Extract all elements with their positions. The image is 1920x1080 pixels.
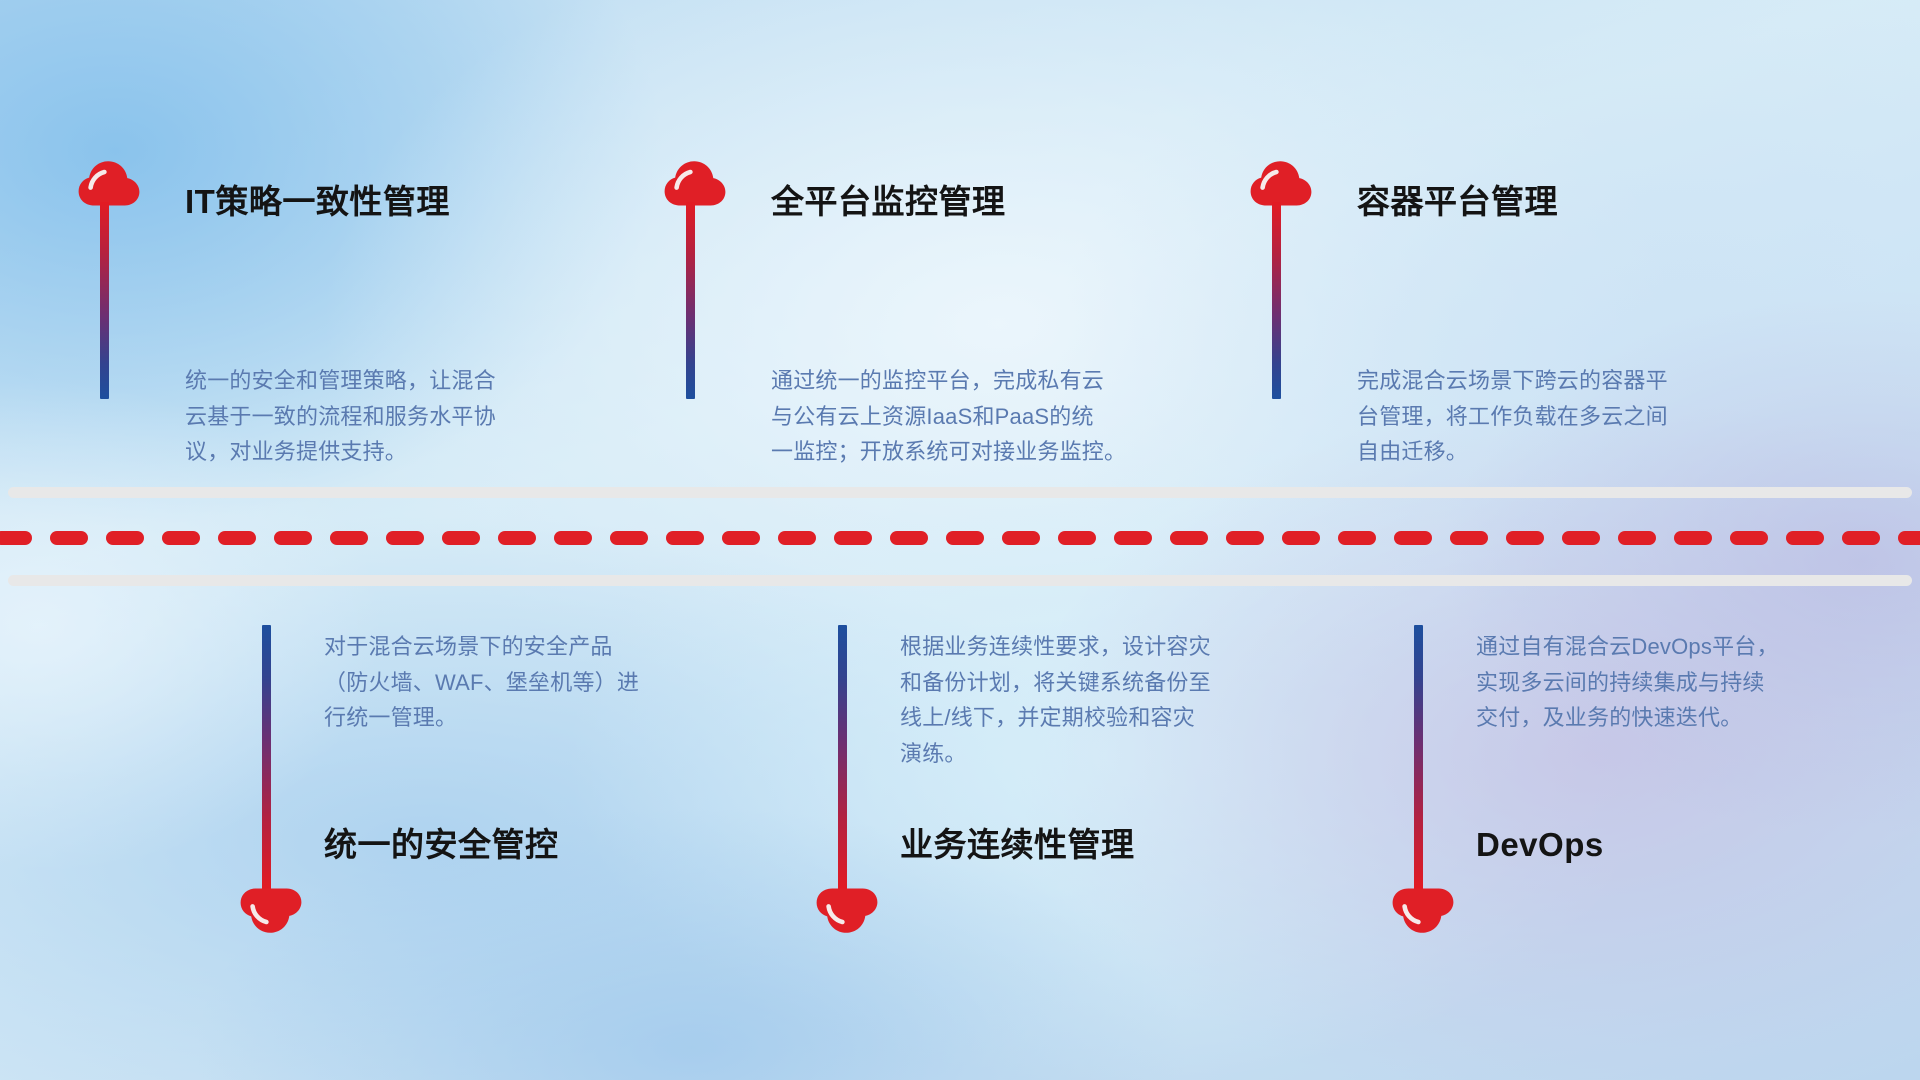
divider-dash — [274, 531, 312, 545]
connector-stem — [686, 202, 695, 399]
cloud-icon — [664, 160, 726, 206]
divider-dash — [1058, 531, 1096, 545]
divider-dash — [722, 531, 760, 545]
divider-dash — [1282, 531, 1320, 545]
cloud-icon — [78, 160, 140, 206]
divider-dash — [330, 531, 368, 545]
divider-dash — [1002, 531, 1040, 545]
divider-dash — [162, 531, 200, 545]
divider-dash — [0, 531, 32, 545]
divider-dash — [1898, 531, 1920, 545]
divider-dash — [1618, 531, 1656, 545]
divider-dashed-line — [0, 531, 1920, 545]
divider-dash — [946, 531, 984, 545]
column-title: DevOps — [1476, 827, 1604, 863]
divider-dash — [554, 531, 592, 545]
divider-dash — [1506, 531, 1544, 545]
divider-dash — [218, 531, 256, 545]
connector-stem — [1414, 625, 1423, 890]
column-body-text: 根据业务连续性要求，设计容灾 和备份计划，将关键系统备份至 线上/线下，并定期校… — [900, 629, 1340, 772]
divider-dash — [1730, 531, 1768, 545]
column-title: IT策略一致性管理 — [185, 184, 450, 220]
divider-dash — [1394, 531, 1432, 545]
divider-dash — [834, 531, 872, 545]
divider-rail-top — [8, 487, 1912, 498]
connector-stem — [262, 625, 271, 890]
divider-dash — [106, 531, 144, 545]
column-title: 容器平台管理 — [1357, 184, 1558, 220]
divider-dash — [442, 531, 480, 545]
divider-dash — [50, 531, 88, 545]
cloud-icon — [1392, 888, 1454, 934]
infographic-canvas: IT策略一致性管理 统一的安全和管理策略，让混合 云基于一致的流程和服务水平协 … — [0, 0, 1920, 1080]
divider-dash — [1562, 531, 1600, 545]
divider-dash — [778, 531, 816, 545]
connector-stem — [1272, 202, 1281, 399]
cloud-icon — [240, 888, 302, 934]
divider-dash — [1786, 531, 1824, 545]
column-body-text: 通过自有混合云DevOps平台， 实现多云间的持续集成与持续 交付，及业务的快速… — [1476, 629, 1906, 736]
divider-band — [0, 487, 1920, 587]
divider-dash — [1674, 531, 1712, 545]
divider-dash — [666, 531, 704, 545]
column-body-text: 统一的安全和管理策略，让混合 云基于一致的流程和服务水平协 议，对业务提供支持。 — [185, 363, 615, 470]
divider-dash — [610, 531, 648, 545]
column-body-text: 通过统一的监控平台，完成私有云 与公有云上资源IaaS和PaaS的统 一监控；开… — [771, 363, 1216, 470]
divider-dash — [1842, 531, 1880, 545]
connector-stem — [100, 202, 109, 399]
cloud-icon — [1250, 160, 1312, 206]
divider-dash — [890, 531, 928, 545]
divider-dash — [1450, 531, 1488, 545]
divider-dash — [1170, 531, 1208, 545]
divider-dash — [498, 531, 536, 545]
connector-stem — [838, 625, 847, 890]
column-body-text: 对于混合云场景下的安全产品 （防火墙、WAF、堡垒机等）进 行统一管理。 — [324, 629, 764, 736]
column-title: 统一的安全管控 — [324, 827, 559, 863]
divider-dash — [1114, 531, 1152, 545]
column-title: 全平台监控管理 — [771, 184, 1006, 220]
column-title: 业务连续性管理 — [900, 827, 1135, 863]
divider-dash — [386, 531, 424, 545]
divider-dash — [1226, 531, 1264, 545]
divider-rail-bottom — [8, 575, 1912, 586]
divider-dash — [1338, 531, 1376, 545]
column-body-text: 完成混合云场景下跨云的容器平 台管理，将工作负载在多云之间 自由迁移。 — [1357, 363, 1787, 470]
cloud-icon — [816, 888, 878, 934]
